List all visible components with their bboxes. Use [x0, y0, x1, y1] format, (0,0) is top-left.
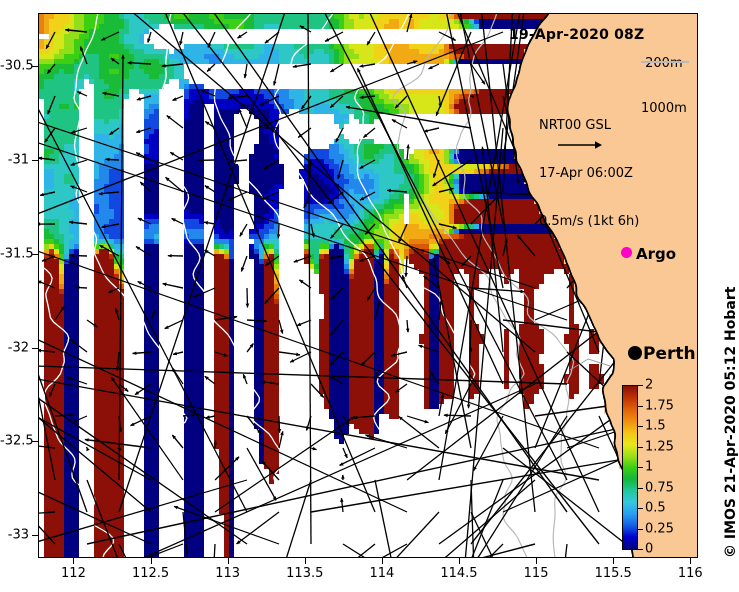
longitude-tick-label: 115 — [524, 566, 549, 581]
longitude-tick-label: 116 — [678, 566, 703, 581]
vector-datetime-label: 17-Apr 06:00Z — [539, 166, 639, 182]
imos-credit-text: © IMOS 21-Apr-2020 05:12 Hobart — [723, 287, 739, 558]
vector-legend: NRT00 GSL 17-Apr 06:00Z 0.5m/s (1kt 6h) — [539, 86, 639, 262]
colorbar-tick — [638, 549, 643, 550]
longitude-tick — [690, 558, 691, 564]
longitude-tick-label: 113 — [215, 566, 240, 581]
argo-marker-label: Argo — [636, 245, 676, 263]
latitude-tick — [32, 348, 38, 349]
colorbar-tick — [638, 426, 643, 427]
colorbar-tick-label: 0 — [645, 542, 653, 557]
longitude-tick — [151, 558, 152, 564]
colorbar-tick-label: 1.5 — [645, 419, 666, 434]
colorbar-tick — [638, 385, 643, 386]
depth-rule-line — [641, 61, 689, 63]
depth-200m-label: 200m — [641, 56, 687, 71]
colorbar-tick — [638, 447, 643, 448]
colorbar-tick-label: 0.75 — [645, 480, 674, 495]
colorbar-tick — [638, 529, 643, 530]
latitude-tick-label: -30.5 — [0, 58, 29, 73]
vector-scale-arrow-icon — [557, 139, 603, 151]
colorbar-tick — [638, 406, 643, 407]
longitude-tick-label: 113.5 — [286, 566, 323, 581]
sst-age-map-figure: 19-Apr-2020 08Z 200m 1000m NRT00 GSL 17-… — [0, 0, 739, 592]
longitude-tick — [536, 558, 537, 564]
depth-contour-legend: 200m 1000m — [641, 26, 687, 146]
map-datetime-title: 19-Apr-2020 08Z — [509, 27, 644, 43]
longitude-tick — [228, 558, 229, 564]
map-plot-area[interactable]: 19-Apr-2020 08Z 200m 1000m NRT00 GSL 17-… — [38, 13, 698, 558]
latitude-tick-label: -32.5 — [0, 434, 29, 449]
longitude-tick-label: 112.5 — [132, 566, 169, 581]
colorbar-tick-label: 2 — [645, 378, 653, 393]
colorbar-tick-label: 1 — [645, 460, 653, 475]
vector-product-label: NRT00 GSL — [539, 118, 639, 134]
colorbar-gradient — [622, 385, 638, 550]
longitude-tick — [305, 558, 306, 564]
perth-marker-label: Perth — [643, 344, 696, 364]
longitude-tick-label: 115.5 — [595, 566, 632, 581]
depth-1000m-label: 1000m — [641, 101, 687, 116]
latitude-tick — [32, 160, 38, 161]
argo-float-marker-icon[interactable] — [622, 248, 631, 257]
colorbar-tick-label: 0.25 — [645, 521, 674, 536]
longitude-tick — [382, 558, 383, 564]
vector-scale-label: 0.5m/s (1kt 6h) — [539, 214, 639, 230]
colorbar-tick — [638, 467, 643, 468]
latitude-tick — [32, 535, 38, 536]
longitude-tick — [73, 558, 74, 564]
colorbar-tick — [638, 508, 643, 509]
latitude-tick-label: -31.5 — [0, 246, 29, 261]
longitude-tick-label: 112 — [61, 566, 86, 581]
colorbar-tick — [638, 488, 643, 489]
latitude-tick-label: -32 — [0, 340, 29, 355]
longitude-tick — [613, 558, 614, 564]
longitude-tick-label: 114 — [369, 566, 394, 581]
colorbar-tick-label: 0.5 — [645, 501, 666, 516]
latitude-tick-label: -31 — [0, 152, 29, 167]
longitude-tick — [459, 558, 460, 564]
latitude-tick-label: -33 — [0, 528, 29, 543]
colorbar-tick-label: 1.75 — [645, 398, 674, 413]
longitude-tick-label: 114.5 — [440, 566, 477, 581]
perth-city-marker-icon[interactable] — [628, 346, 642, 360]
colorbar-tick-label: 1.25 — [645, 439, 674, 454]
